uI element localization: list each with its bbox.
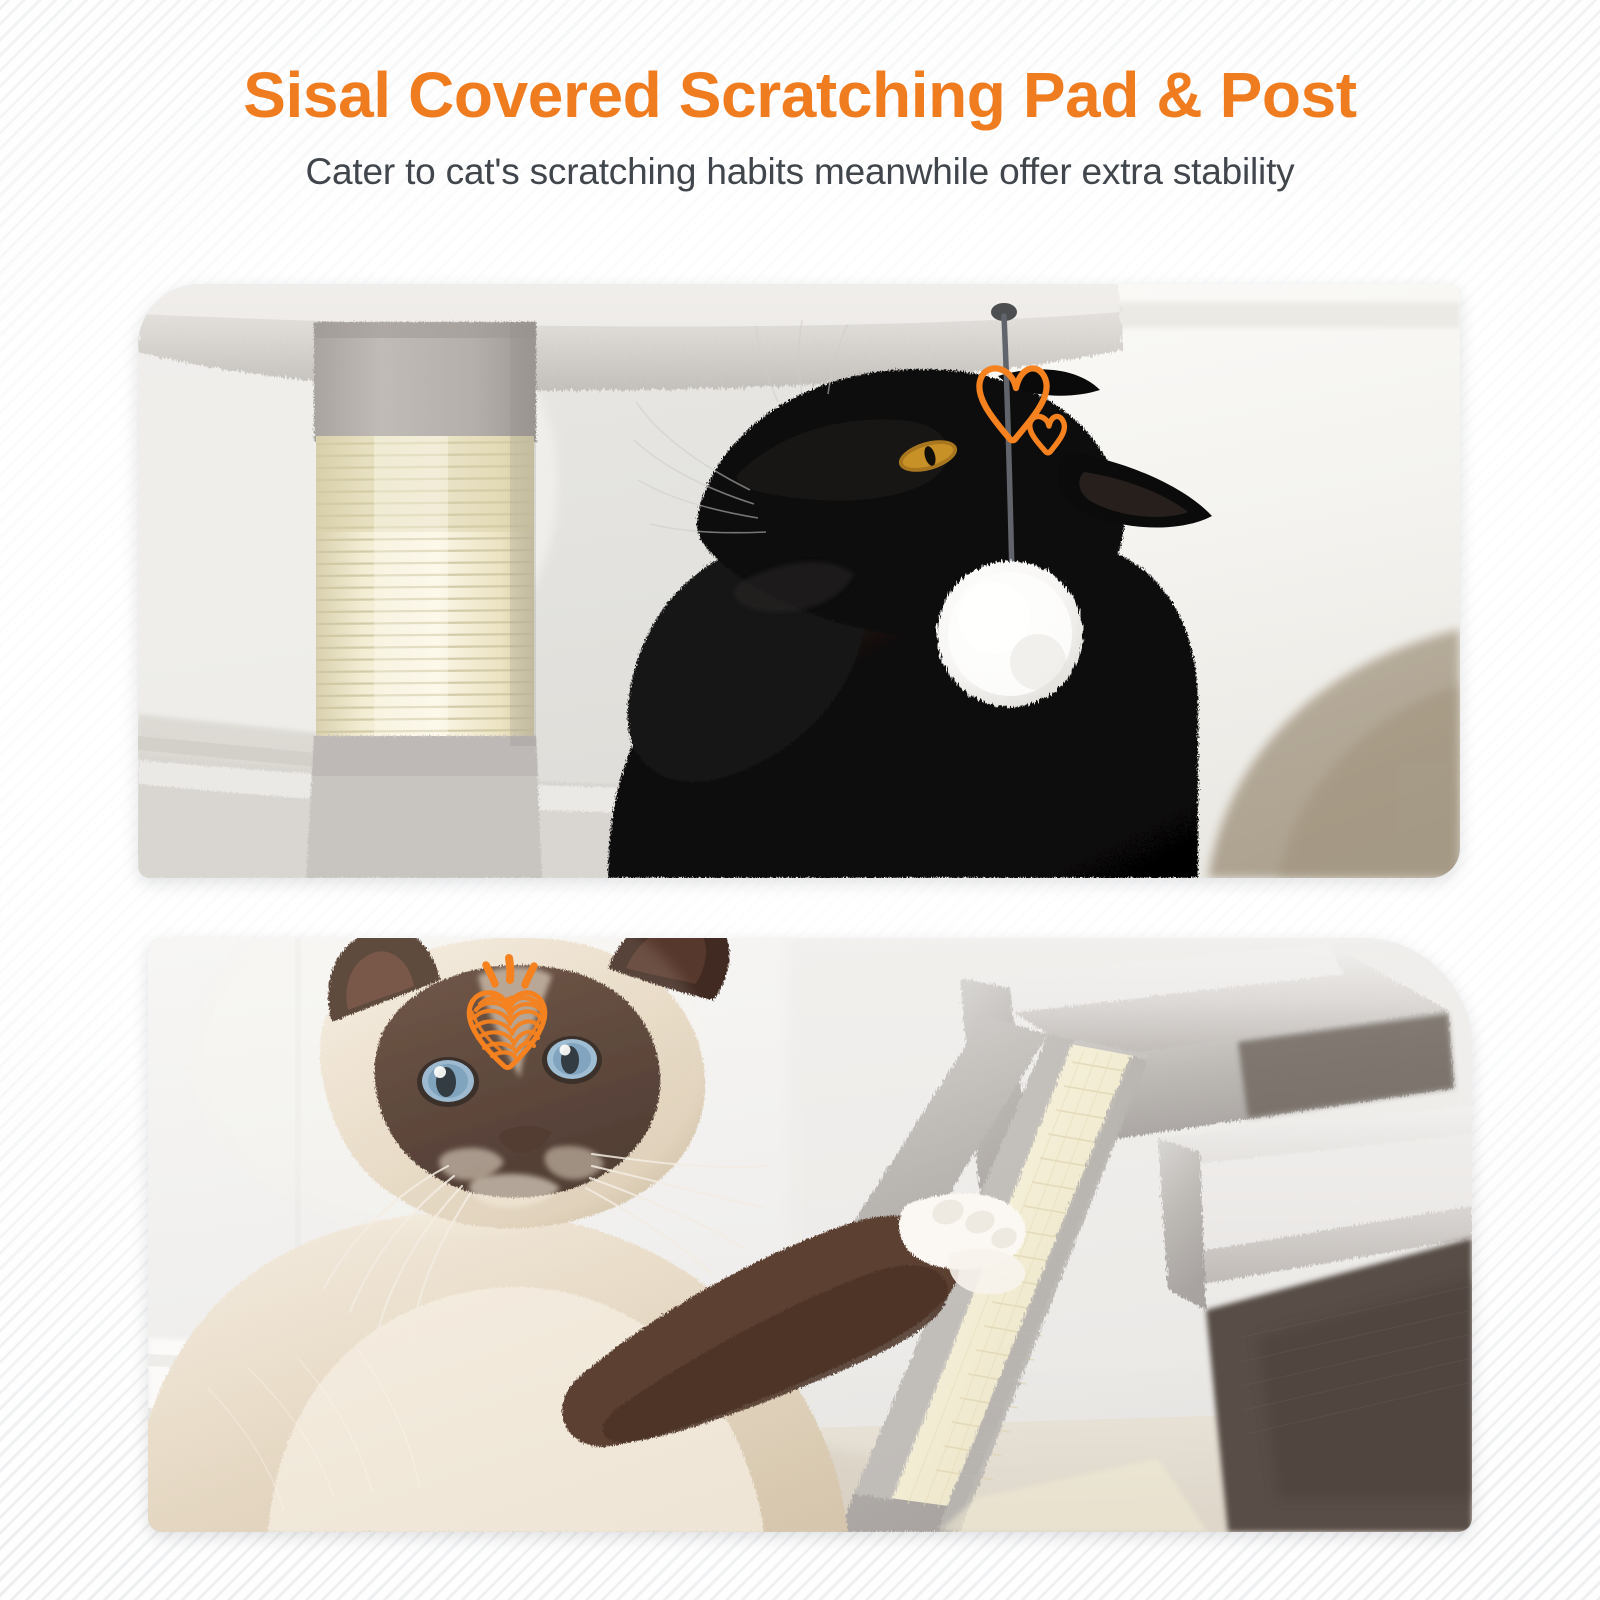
header: Sisal Covered Scratching Pad & Post Cate… bbox=[0, 0, 1600, 193]
photo-scratching-ramp bbox=[148, 938, 1472, 1532]
panel-scratching-ramp[interactable] bbox=[148, 938, 1472, 1532]
photo-scratching-post bbox=[138, 284, 1460, 878]
page-subtitle: Cater to cat's scratching habits meanwhi… bbox=[0, 151, 1600, 193]
panel-scratching-post[interactable] bbox=[138, 284, 1460, 878]
page-title: Sisal Covered Scratching Pad & Post bbox=[0, 62, 1600, 129]
promo-page: Sisal Covered Scratching Pad & Post Cate… bbox=[0, 0, 1600, 1600]
